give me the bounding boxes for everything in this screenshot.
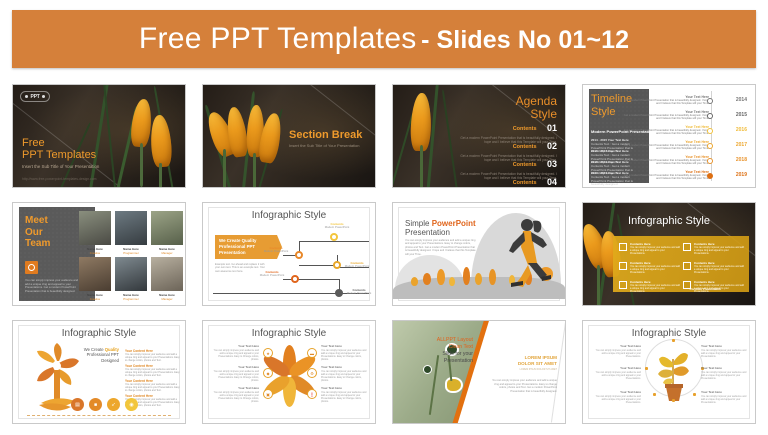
- slide2-title: Section Break: [289, 129, 362, 141]
- timeline-row-year: 2015: [736, 112, 747, 118]
- check-icon: [683, 262, 691, 270]
- timeline-row-text: Your Text Here Get a modern PowerPoint P…: [621, 125, 709, 136]
- agenda-number: 02: [547, 141, 557, 151]
- team-member-role: Programmer: [115, 251, 147, 255]
- image-icon: ▣: [263, 389, 273, 399]
- slide-thumbnail-11[interactable]: ALLPPT Layout Clean Text Slide for your …: [392, 320, 566, 424]
- slide-thumbnail-7[interactable]: Simple PowerPoint Presentation You can s…: [392, 202, 566, 306]
- slide8-title: Infographic Style: [583, 215, 755, 227]
- item-heading: Your Text Here: [701, 345, 749, 348]
- slide8-panel: Contents Here You can simply impress you…: [613, 236, 749, 292]
- timeline-row-body: Get a modern PowerPoint Presentation tha…: [621, 99, 709, 106]
- flower-stem: [253, 153, 256, 187]
- slide12-item: Your Text Here You can simply impress yo…: [701, 391, 749, 404]
- item-heading: Your Text Here: [321, 387, 369, 390]
- timeline-row-text: Your Text Here Get a modern PowerPoint P…: [621, 140, 709, 151]
- connector-line: [299, 241, 369, 242]
- timeline-row-text: Your Text Here Get a modern PowerPoint P…: [621, 110, 709, 121]
- timeline-marker-icon: [707, 128, 713, 134]
- timeline-row: Your Text Here Get a modern PowerPoint P…: [649, 155, 749, 168]
- marker-dot: [653, 393, 656, 396]
- node-label: Contents Modern PowerPoint: [344, 289, 374, 296]
- slide11-title-accent: ALLPPT Layout: [407, 337, 473, 344]
- timeline-marker-icon: [707, 158, 713, 164]
- slide10-title: Infographic Style: [203, 328, 375, 339]
- star-icon: ★: [263, 348, 273, 358]
- item-body: You can simply impress your audience and…: [701, 371, 746, 380]
- briefcase-icon: ▬: [307, 348, 317, 358]
- slide-thumbnail-6[interactable]: Infographic Style We Create Quality Prof…: [202, 202, 376, 306]
- timeline-row: Your Text Here Get a modern PowerPoint P…: [649, 170, 749, 183]
- item-heading: Your Text Here: [321, 366, 369, 369]
- item-heading: Your Text Here: [701, 391, 749, 394]
- tree-icon: [437, 269, 445, 285]
- grass-blade: [442, 89, 458, 187]
- node-label-sub: Modern PowerPoint: [342, 265, 372, 268]
- check-icon: [683, 243, 691, 251]
- team-member-role: Manager: [151, 251, 183, 255]
- timeline-row-year: 2014: [736, 97, 747, 103]
- item-heading: Your Text Here: [701, 367, 749, 370]
- team-photo: [151, 211, 183, 245]
- briefcase-icon: ■: [89, 398, 102, 411]
- timeline-row-text: Your Text Here Get a modern PowerPoint P…: [621, 170, 709, 181]
- item-body: You can simply impress your audience and…: [596, 371, 641, 380]
- slide10-item: Your Text Here You can simply impress yo…: [321, 366, 369, 382]
- tree-icon: [423, 273, 431, 285]
- slide11-right-heading: LOREM IPSUM DOLOR SIT AMET: [487, 355, 557, 367]
- slide1-title-line2: PPT Templates: [22, 149, 96, 161]
- globe-icon: ◉: [125, 398, 138, 411]
- right-heading-line2: DOLOR SIT AMET: [487, 361, 557, 367]
- slide11-title-plain2: Presentation: [407, 358, 473, 365]
- item-heading: Your Text Here: [211, 387, 259, 390]
- item-body: You can simply impress your audience and…: [596, 395, 641, 404]
- cell-body: You can simply impress your audience and…: [630, 284, 680, 293]
- node-label: Contents Modern PowerPoint: [322, 223, 352, 230]
- item-body: You can simply impress your audience and…: [214, 349, 259, 361]
- item-body: You can simply impress your audience and…: [701, 349, 746, 358]
- node-label-sub: Modern PowerPoint: [322, 226, 352, 229]
- rocket-icon: ➶: [107, 398, 120, 411]
- slide12-item: Your Text Here You can simply impress yo…: [701, 367, 749, 380]
- team-member-role: Manager: [151, 297, 183, 301]
- timeline-row-body: Get a modern PowerPoint Presentation tha…: [621, 159, 709, 166]
- slide1-title: Free PPT Templates: [22, 137, 96, 161]
- node-icon: [335, 289, 343, 297]
- logo-dot-icon: [25, 95, 28, 98]
- tree-icon: [475, 273, 482, 285]
- slide2-subtitle: Insert the Sub Title of Your Presentatio…: [289, 143, 360, 148]
- team-photo: [115, 211, 147, 245]
- slide5-title-line3: Team: [25, 238, 50, 250]
- item-body: You can simply impress your audience and…: [125, 383, 181, 392]
- timeline-row: Your Text Here Get a modern PowerPoint P…: [649, 125, 749, 138]
- logo-dot-icon: [42, 95, 45, 98]
- slide-thumbnail-8[interactable]: Infographic Style Contents Here You can …: [582, 202, 756, 306]
- timeline-marker-icon: [707, 98, 713, 104]
- agenda-item: Contents 04 Get a modern PowerPoint Pres…: [459, 171, 557, 187]
- slide-thumbnail-1[interactable]: PPT Free PPT Templates Insert the Sub Ti…: [12, 84, 186, 188]
- slide11-title-plain1: Slide for your: [407, 351, 473, 358]
- timeline-row: Your Text Here Get a modern PowerPoint P…: [649, 95, 749, 108]
- flower-petal: [149, 114, 173, 167]
- divider: [27, 415, 171, 416]
- marker-dot: [645, 367, 648, 370]
- slide-thumbnail-12[interactable]: Infographic Style: [582, 320, 756, 424]
- timeline-row-year: 2016: [736, 127, 747, 133]
- slide9-item: Your Content Here You can simply impress…: [125, 364, 181, 377]
- star-glyph: ★: [266, 351, 270, 356]
- gear-icon: ⚙: [307, 368, 317, 378]
- flower-stem: [159, 163, 162, 187]
- team-photo: [151, 257, 183, 291]
- slide-thumbnail-3[interactable]: Agenda Style Contents 01 Get a modern Po…: [392, 84, 566, 188]
- check-icon: [619, 262, 627, 270]
- runner-svg: [501, 217, 555, 289]
- timeline-row-year: 2018: [736, 157, 747, 163]
- potted-plant-illustration: [655, 347, 693, 403]
- timeline-marker-icon: [707, 113, 713, 119]
- slide12-item: Your Text Here You can simply impress yo…: [593, 345, 641, 358]
- banner-title: Free PPT Templates - Slides No 01~12: [139, 22, 629, 56]
- timeline-row-text: Your Text Here Get a modern PowerPoint P…: [621, 95, 709, 106]
- alert-icon: ❗: [307, 389, 317, 399]
- slide5-body: You can simply impress your audience and…: [25, 279, 83, 293]
- team-photo: [79, 211, 111, 245]
- item-body: You can simply impress your audience and…: [321, 370, 366, 382]
- item-body: You can simply impress your audience and…: [701, 395, 746, 404]
- team-photo: [115, 257, 147, 291]
- item-heading: Your Text Here: [593, 391, 641, 394]
- slide8-footer: Portfolio Presentation: [690, 287, 721, 291]
- item-body: You can simply impress your audience and…: [125, 353, 181, 362]
- item-body: You can simply impress your audience and…: [125, 368, 181, 377]
- slide11-title: ALLPPT Layout Clean Text Slide for your …: [407, 337, 473, 365]
- header-banner: Free PPT Templates - Slides No 01~12: [12, 10, 756, 68]
- slide7-title-accent: PowerPoint: [432, 219, 476, 228]
- slide5-title-line2: Our: [25, 227, 50, 239]
- agenda-label: Contents: [513, 126, 537, 132]
- slide9-item: Your Content Here You can simply impress…: [125, 379, 181, 392]
- chart-glyph: ▤: [75, 402, 80, 408]
- node-icon: [291, 275, 299, 283]
- agenda-number: 04: [547, 177, 557, 187]
- slide9-heading-accent: Quality: [105, 347, 119, 352]
- slide10-item: Your Text Here You can simply impress yo…: [211, 387, 259, 403]
- slide-thumbnail-9[interactable]: Infographic Style We Create Quality Prof…: [12, 320, 186, 424]
- slide-thumbnail-5[interactable]: Meet Our Team You can simply impress you…: [12, 202, 186, 306]
- check-icon: [619, 281, 627, 289]
- timeline-row-year: 2017: [736, 142, 747, 148]
- grass-blade: [103, 85, 117, 187]
- briefcase-glyph: ■: [94, 402, 97, 408]
- item-body: You can simply impress your audience and…: [214, 391, 259, 403]
- slide7-title-plain: Simple: [405, 219, 432, 228]
- team-badge-icon: [25, 261, 38, 274]
- tree-icon: [449, 277, 455, 286]
- timeline-marker-icon: [707, 143, 713, 149]
- timeline-row-text: Your Text Here Get a modern PowerPoint P…: [621, 155, 709, 166]
- node-label: Contents Modern PowerPoint: [342, 262, 372, 269]
- marker-dot: [672, 399, 675, 402]
- timeline-row-body: Get a modern PowerPoint Presentation tha…: [621, 129, 709, 136]
- marker-dot: [672, 339, 675, 342]
- poppy-flower: [445, 377, 463, 393]
- flower-stem: [223, 149, 226, 187]
- slide12-item: Your Text Here You can simply impress yo…: [593, 391, 641, 404]
- slide10-item: Your Text Here You can simply impress yo…: [211, 366, 259, 382]
- slide-thumbnail-4[interactable]: Timeline Style Modern PowerPoint Present…: [582, 84, 756, 188]
- timeline-row: Your Text Here Get a modern PowerPoint P…: [649, 110, 749, 123]
- slide12-item: Your Text Here You can simply impress yo…: [593, 367, 641, 380]
- timeline-row-body: Get a modern PowerPoint Presentation tha…: [621, 144, 709, 151]
- slide1-title-line1: Free: [22, 137, 96, 149]
- node-icon: [333, 261, 341, 269]
- gear-glyph: ⚙: [310, 371, 314, 376]
- slide9-title: Infographic Style: [13, 328, 185, 339]
- item-body: You can simply impress your audience and…: [321, 391, 366, 403]
- rocket-glyph: ➶: [111, 402, 115, 408]
- tag-icon: ◆: [263, 368, 273, 378]
- tree-icon: [489, 269, 496, 285]
- agenda-number: 01: [547, 123, 557, 133]
- slide11-right-sub: LOREM IPSUM DOLOR SIT AMET: [487, 368, 557, 371]
- flower-petal: [130, 98, 154, 148]
- slide7-body: You can simply impress your audience and…: [405, 239, 477, 256]
- node-icon: [295, 251, 303, 259]
- item-heading: Your Text Here: [211, 345, 259, 348]
- item-body: You can simply impress your audience and…: [214, 370, 259, 382]
- page-root: Free PPT Templates - Slides No 01~12: [0, 0, 768, 435]
- node-label: Contents Modern PowerPoint: [257, 271, 287, 278]
- slide-thumbnail-2[interactable]: Section Break Insert the Sub Title of Yo…: [202, 84, 376, 188]
- slide1-url: http://www.free-powerpoint-templates-des…: [22, 177, 96, 181]
- node-icon: [330, 233, 338, 241]
- tag-glyph: ◆: [266, 371, 269, 376]
- slide10-item: Your Text Here You can simply impress yo…: [321, 345, 369, 361]
- timeline-row-body: Get a modern PowerPoint Presentation tha…: [621, 114, 709, 121]
- slide9-item: Your Content Here You can simply impress…: [125, 349, 181, 362]
- banner-title-sub: - Slides No 01~12: [421, 26, 629, 54]
- slide5-title-line1: Meet: [25, 215, 50, 227]
- logo-text: PPT: [30, 94, 39, 100]
- check-icon: [619, 243, 627, 251]
- slide12-title: Infographic Style: [583, 328, 755, 339]
- team-member-role: Creative: [79, 297, 111, 301]
- timeline-row: Your Text Here Get a modern PowerPoint P…: [649, 140, 749, 153]
- cell-body: You can simply impress your audience and…: [694, 246, 744, 255]
- team-photo: [79, 257, 111, 291]
- globe-glyph: ◉: [129, 402, 133, 408]
- cell-body: You can simply impress your audience and…: [694, 265, 744, 274]
- slide-thumbnail-10[interactable]: Infographic Style ★ Your Text Here You c…: [202, 320, 376, 424]
- banner-title-main: Free PPT Templates: [139, 22, 417, 55]
- slide9-heading-plain1: We Create: [84, 347, 105, 352]
- image-glyph: ▣: [266, 392, 270, 397]
- slide5-title: Meet Our Team: [25, 215, 50, 250]
- timeline-marker-icon: [707, 173, 713, 179]
- flower-stem: [597, 265, 600, 305]
- node-label-sub: Modern PowerPoint: [261, 250, 291, 253]
- item-heading: Your Text Here: [211, 366, 259, 369]
- agenda-number: 03: [547, 159, 557, 169]
- chart-icon: ▤: [71, 398, 84, 411]
- node-label: Contents Modern PowerPoint: [261, 247, 291, 254]
- poppy-bud: [423, 365, 432, 374]
- alert-glyph: ❗: [310, 392, 315, 397]
- agenda-label: Contents: [513, 162, 537, 168]
- slide11-title-accent2: Clean Text: [407, 344, 473, 351]
- agenda-label: Contents: [513, 180, 537, 186]
- node-label-sub: Modern PowerPoint: [344, 292, 374, 295]
- slide12-item: Your Text Here You can simply impress yo…: [701, 345, 749, 358]
- cell-body: You can simply impress your audience and…: [630, 246, 680, 255]
- item-heading: Your Text Here: [321, 345, 369, 348]
- cell-body: You can simply impress your audience and…: [630, 265, 680, 274]
- item-body: You can simply impress your audience and…: [321, 349, 366, 361]
- marker-dot: [693, 393, 696, 396]
- flower-stem: [420, 145, 423, 187]
- timeline-row-body: Get a modern PowerPoint Presentation tha…: [621, 174, 709, 181]
- team-member-role: Programmer: [115, 297, 147, 301]
- agenda-label: Contents: [513, 144, 537, 150]
- flower-stem: [140, 143, 143, 187]
- team-member-role: Creative: [79, 251, 111, 255]
- ppt-logo: PPT: [20, 91, 50, 102]
- item-heading: Your Text Here: [593, 367, 641, 370]
- slide10-item: Your Text Here You can simply impress yo…: [211, 345, 259, 361]
- briefcase-glyph: ▬: [310, 351, 314, 356]
- tree-icon: [463, 267, 470, 285]
- runner-illustration: [501, 217, 555, 294]
- flower-petal: [410, 93, 432, 152]
- timeline-row-year: 2019: [736, 172, 747, 178]
- slide7-title-line2: Presentation: [405, 228, 476, 237]
- slide9-heading: We Create Quality Professional PPT Desig…: [71, 347, 119, 363]
- slide7-title: Simple PowerPoint Presentation: [405, 219, 476, 237]
- tree-icon: [411, 277, 418, 286]
- node-label-sub: Modern PowerPoint: [257, 274, 287, 277]
- item-body: You can simply impress your audience and…: [596, 349, 641, 358]
- slide9-heading-plain2: Professional PPT Designed: [71, 352, 119, 363]
- slide1-subtitle: Insert the Sub Title of Your Presentatio…: [22, 164, 99, 169]
- slide10-item: Your Text Here You can simply impress yo…: [321, 387, 369, 403]
- slide11-right-body: You can simply impress your audience and…: [487, 379, 557, 393]
- slide6-title: Infographic Style: [203, 210, 375, 221]
- slide-grid: PPT Free PPT Templates Insert the Sub Ti…: [4, 80, 764, 432]
- item-heading: Your Text Here: [593, 345, 641, 348]
